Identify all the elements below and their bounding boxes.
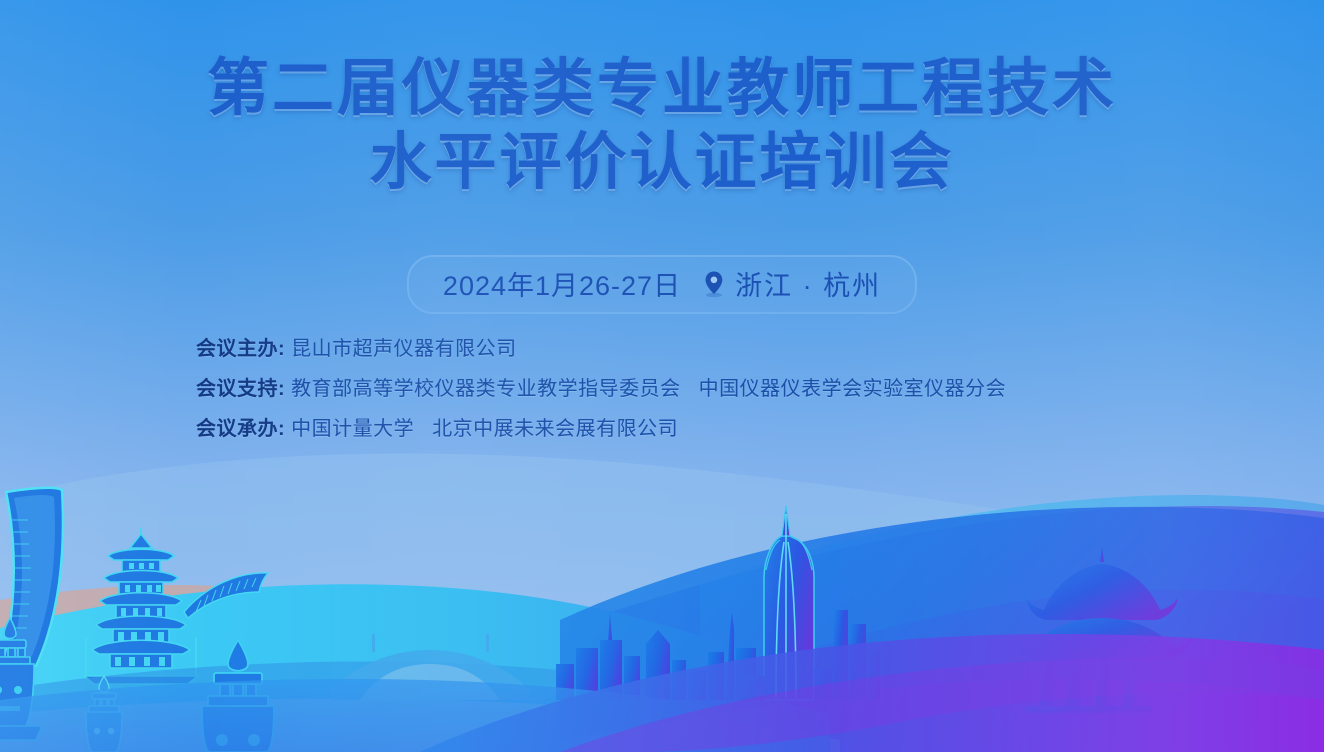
organizer-label: 会议支持: [196, 372, 285, 401]
organizer-value: 教育部高等学校仪器类专业教学指导委员会 [291, 372, 681, 401]
organizer-list: 会议主办: 昆山市超声仪器有限公司 会议支持: 教育部高等学校仪器类专业教学指导… [196, 332, 1006, 452]
conference-date: 2024年1月26-27日 [443, 264, 681, 303]
banner-title: 第二届仪器类专业教师工程技术 水平评价认证培训会 [0, 52, 1324, 200]
organizer-row-host: 会议主办: 昆山市超声仪器有限公司 [196, 332, 1006, 361]
organizer-value: 昆山市超声仪器有限公司 [291, 332, 517, 361]
organizer-value: 中国仪器仪表学会实验室仪器分会 [699, 372, 1007, 401]
organizer-row-support: 会议支持: 教育部高等学校仪器类专业教学指导委员会 中国仪器仪表学会实验室仪器分… [196, 372, 1006, 401]
conference-banner: 第二届仪器类专业教师工程技术 水平评价认证培训会 2024年1月26-27日 浙… [0, 0, 1324, 752]
organizer-label: 会议主办: [196, 332, 285, 361]
organizer-value: 北京中展未来会展有限公司 [432, 412, 678, 441]
title-line-2: 水平评价认证培训会 [0, 126, 1324, 200]
organizer-value: 中国计量大学 [291, 412, 414, 441]
organizer-row-undertaker: 会议承办: 中国计量大学 北京中展未来会展有限公司 [196, 412, 1006, 441]
map-pin-icon [703, 270, 725, 298]
conference-location: 浙江 · 杭州 [735, 264, 881, 303]
location-group: 浙江 · 杭州 [703, 264, 881, 303]
title-line-1: 第二届仪器类专业教师工程技术 [0, 52, 1324, 126]
organizer-label: 会议承办: [196, 412, 285, 441]
date-location-pill: 2024年1月26-27日 浙江 · 杭州 [407, 255, 917, 314]
